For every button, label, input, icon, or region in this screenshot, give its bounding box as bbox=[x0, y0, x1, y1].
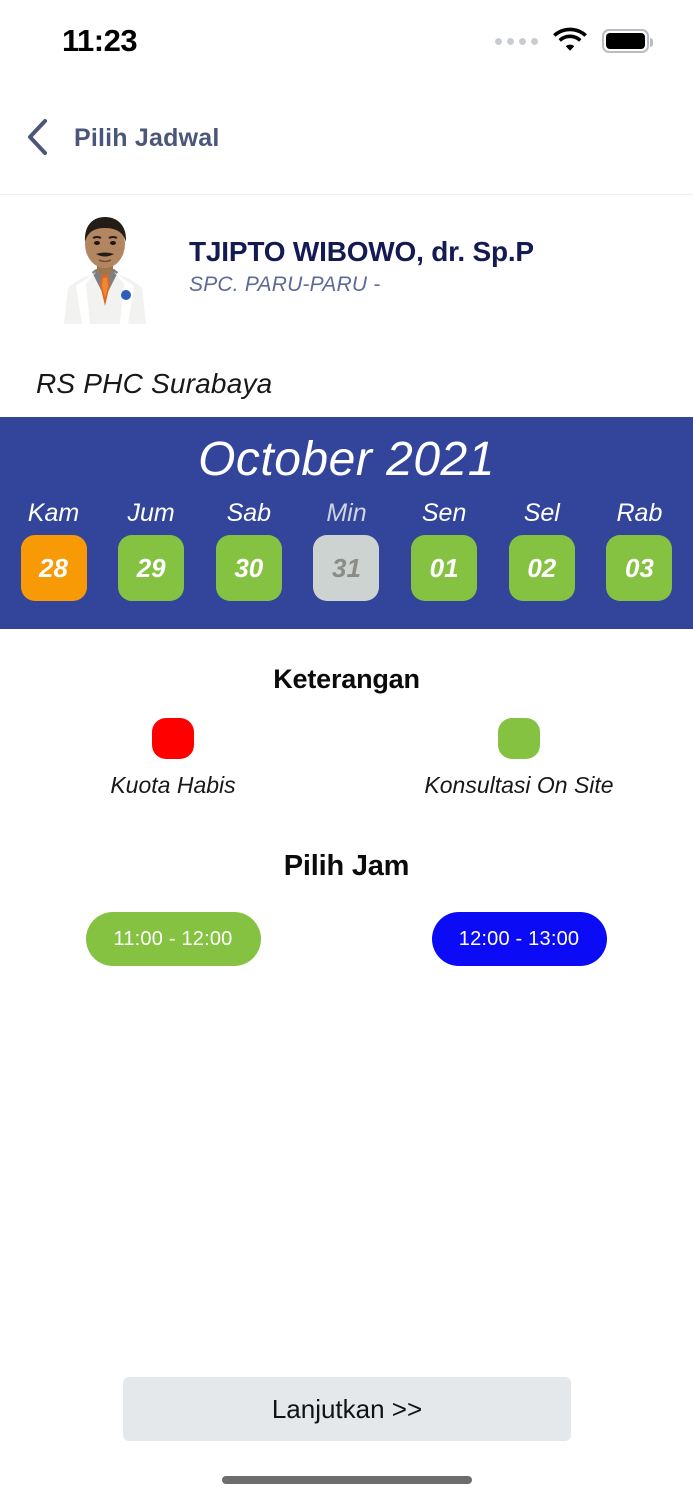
chevron-left-icon bbox=[26, 118, 48, 156]
hours-title: Pilih Jam bbox=[0, 850, 693, 883]
doctor-text: TJIPTO WIBOWO, dr. Sp.P SPC. PARU-PARU - bbox=[164, 214, 534, 297]
calendar-dow-label: Sel bbox=[524, 499, 560, 528]
calendar-day-01[interactable]: Sen 01 bbox=[398, 499, 491, 601]
calendar-date-chip[interactable]: 02 bbox=[509, 535, 575, 601]
calendar-date-chip[interactable]: 28 bbox=[21, 535, 87, 601]
status-time: 11:23 bbox=[62, 23, 137, 59]
wifi-icon bbox=[553, 26, 587, 56]
hour-slot-cell: 11:00 - 12:00 bbox=[0, 912, 346, 966]
calendar-dow-label: Sab bbox=[227, 499, 271, 528]
doctor-specialty: SPC. PARU-PARU - bbox=[189, 273, 534, 297]
legend-item-kuota-habis: Kuota Habis bbox=[0, 718, 346, 799]
legend-swatch-red bbox=[152, 718, 194, 759]
calendar-month-label: October 2021 bbox=[0, 417, 693, 487]
calendar-dow-label: Jum bbox=[128, 499, 175, 528]
calendar-date-chip[interactable]: 03 bbox=[606, 535, 672, 601]
calendar-days: Kam 28 Jum 29 Sab 30 Min 31 Sen 01 Sel bbox=[0, 487, 693, 601]
page-title: Pilih Jadwal bbox=[74, 124, 220, 153]
calendar-date-chip[interactable]: 30 bbox=[216, 535, 282, 601]
nav-header: Pilih Jadwal bbox=[0, 82, 693, 195]
signal-dots-icon bbox=[495, 38, 538, 45]
home-indicator[interactable] bbox=[222, 1476, 472, 1484]
calendar-dow-label: Rab bbox=[617, 499, 663, 528]
doctor-name: TJIPTO WIBOWO, dr. Sp.P bbox=[189, 236, 534, 268]
calendar-day-30[interactable]: Sab 30 bbox=[202, 499, 295, 601]
legend-swatch-green bbox=[498, 718, 540, 759]
calendar-dow-label: Min bbox=[326, 499, 366, 528]
continue-button[interactable]: Lanjutkan >> bbox=[123, 1377, 571, 1441]
legend-label: Kuota Habis bbox=[110, 772, 235, 799]
status-bar: 11:23 bbox=[0, 0, 693, 82]
calendar-dow-label: Sen bbox=[422, 499, 466, 528]
hour-slot-12-13[interactable]: 12:00 - 13:00 bbox=[432, 912, 607, 966]
calendar-date-chip[interactable]: 01 bbox=[411, 535, 477, 601]
calendar-day-03[interactable]: Rab 03 bbox=[593, 499, 686, 601]
hours-row: 11:00 - 12:00 12:00 - 13:00 bbox=[0, 912, 693, 966]
doctor-info: TJIPTO WIBOWO, dr. Sp.P SPC. PARU-PARU - bbox=[0, 196, 693, 324]
calendar-day-31: Min 31 bbox=[300, 499, 393, 601]
calendar-date-chip: 31 bbox=[313, 535, 379, 601]
legend-item-konsultasi-on-site: Konsultasi On Site bbox=[346, 718, 692, 799]
phone-screen: 11:23 Pilih Jadwal bbox=[0, 0, 693, 1500]
back-button[interactable] bbox=[0, 82, 74, 194]
calendar-day-29[interactable]: Jum 29 bbox=[105, 499, 198, 601]
hour-slot-11-12[interactable]: 11:00 - 12:00 bbox=[86, 912, 261, 966]
doctor-photo bbox=[46, 214, 164, 324]
calendar-strip: October 2021 Kam 28 Jum 29 Sab 30 Min 31… bbox=[0, 417, 693, 629]
calendar-day-28[interactable]: Kam 28 bbox=[7, 499, 100, 601]
status-indicators bbox=[495, 26, 649, 56]
calendar-dow-label: Kam bbox=[28, 499, 79, 528]
calendar-day-02[interactable]: Sel 02 bbox=[495, 499, 588, 601]
battery-full-icon bbox=[602, 29, 649, 53]
calendar-date-chip[interactable]: 29 bbox=[118, 535, 184, 601]
legend-label: Konsultasi On Site bbox=[424, 772, 613, 799]
hospital-name: RS PHC Surabaya bbox=[36, 368, 272, 400]
hour-slot-cell: 12:00 - 13:00 bbox=[346, 912, 692, 966]
legend-row: Kuota Habis Konsultasi On Site bbox=[0, 718, 693, 799]
legend-title: Keterangan bbox=[0, 664, 693, 695]
